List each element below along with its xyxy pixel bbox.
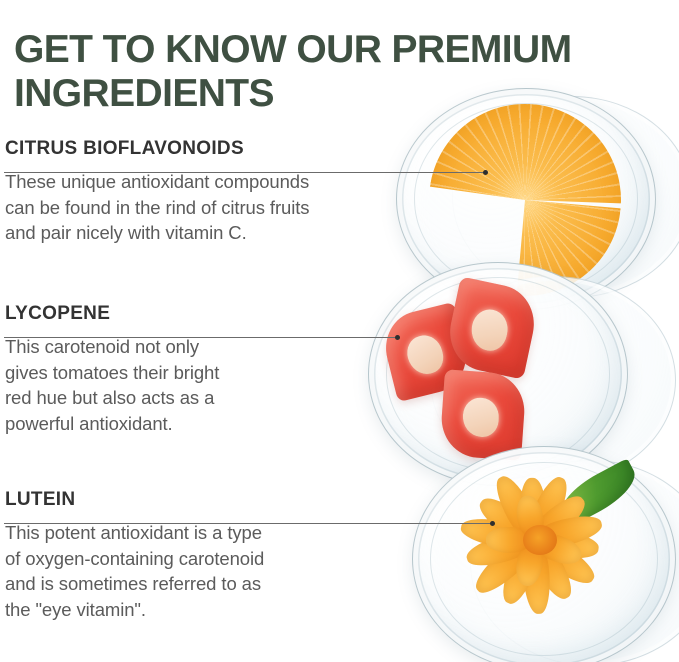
marigold-flower — [460, 470, 620, 610]
section-heading-lycopene: LYCOPENE — [5, 303, 219, 325]
section-body-line: the "eye vitamin". — [5, 597, 264, 623]
marigold-petal — [474, 491, 542, 550]
orange-slice-group — [418, 104, 632, 296]
marigold-petal — [527, 529, 600, 590]
section-body-line: and pair nicely with vitamin C. — [5, 220, 309, 246]
tomato-core — [404, 332, 447, 378]
section-body-line: powerful antioxidant. — [5, 411, 219, 437]
connector-dot-lutein — [490, 521, 495, 526]
marigold-petal — [532, 527, 600, 562]
marigold-petal — [519, 477, 547, 540]
tomato-wedge — [378, 302, 474, 402]
petri-dish-lid-lycopene — [430, 276, 676, 484]
marigold-petal — [464, 528, 538, 572]
section-citrus-bioflavonoids: CITRUS BIOFLAVONOIDS These unique antiox… — [5, 138, 309, 246]
marigold-petal — [526, 489, 591, 550]
marigold-petal — [513, 494, 546, 539]
orange-wedge — [525, 104, 624, 203]
connector-dot-citrus — [483, 170, 488, 175]
petri-dish-citrus — [396, 88, 656, 310]
section-body-line: and is sometimes referred to as — [5, 571, 264, 597]
section-body-lycopene: This carotenoid not only gives tomatoes … — [5, 325, 219, 436]
section-body-lutein: This potent antioxidant is a type of oxy… — [5, 511, 264, 622]
petri-dish-lid-lutein — [470, 460, 679, 662]
section-body-line: can be found in the rind of citrus fruit… — [5, 195, 309, 221]
tomato-core — [468, 307, 512, 354]
connector-line-citrus — [4, 172, 486, 173]
marigold-petal — [459, 514, 536, 552]
tomato-wedge — [439, 369, 527, 461]
marigold-leaf — [553, 458, 643, 527]
petri-dish-lutein — [412, 446, 676, 662]
marigold-petal — [469, 530, 542, 600]
section-body-line: gives tomatoes their bright — [5, 360, 219, 386]
section-body-line: red hue but also acts as a — [5, 385, 219, 411]
marigold-petal — [496, 535, 546, 608]
section-body-line: of oxygen-containing carotenoid — [5, 546, 264, 572]
marigold-petal — [531, 511, 605, 553]
connector-line-lutein — [4, 523, 493, 524]
connector-line-lycopene — [4, 337, 398, 338]
marigold-center — [523, 525, 557, 555]
connector-dot-lycopene — [395, 335, 400, 340]
section-heading-citrus: CITRUS BIOFLAVONOIDS — [5, 138, 309, 160]
section-lutein: LUTEIN This potent antioxidant is a type… — [5, 489, 264, 622]
marigold-petal — [486, 527, 530, 553]
marigold-petal — [523, 534, 579, 605]
marigold-petal — [533, 529, 585, 569]
marigold-petal — [513, 541, 546, 588]
petri-dish-lid-citrus — [452, 96, 679, 298]
petri-dish-lycopene — [368, 262, 628, 486]
marigold-petal — [522, 473, 573, 546]
section-lycopene: LYCOPENE This carotenoid not only gives … — [5, 303, 219, 436]
page-title: GET TO KNOW OUR PREMIUM INGREDIENTS — [14, 28, 654, 116]
orange-wedge — [517, 200, 621, 304]
tomato-wedge — [443, 276, 542, 379]
infographic-page: GET TO KNOW OUR PREMIUM INGREDIENTS — [0, 0, 679, 662]
section-heading-lutein: LUTEIN — [5, 489, 264, 511]
marigold-petal — [521, 539, 552, 615]
marigold-petal — [489, 471, 545, 546]
tomato-core — [462, 396, 501, 438]
